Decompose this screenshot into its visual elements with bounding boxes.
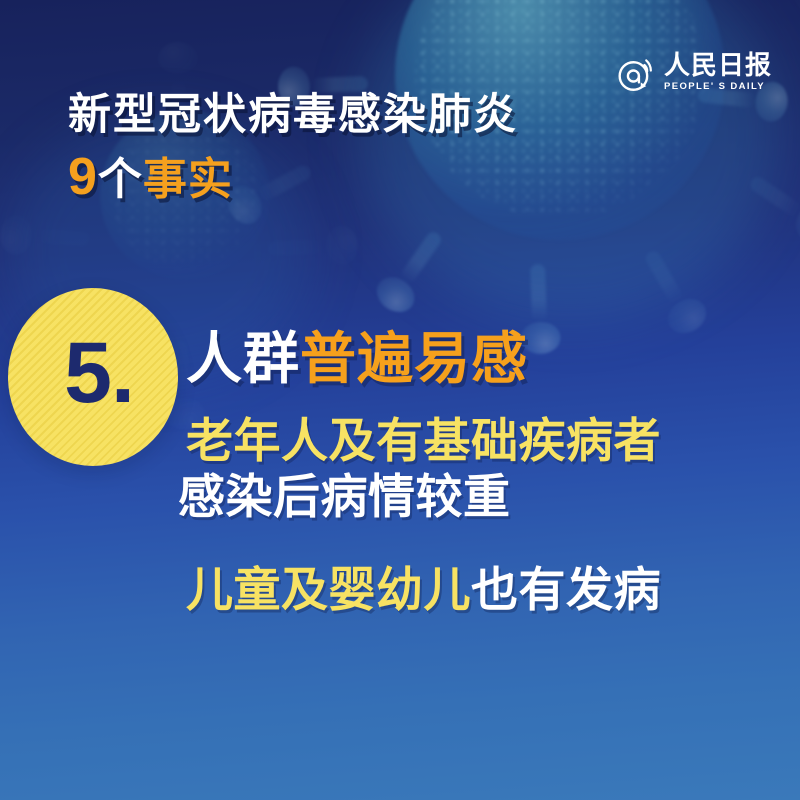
fact-sub-line-1-text: 老年人及有基础疾病者	[186, 414, 661, 467]
virus-spike	[633, 242, 710, 335]
fact-title-part-2: 普遍易感	[300, 327, 528, 390]
logo-text-block: 人民日报 PEOPLE' S DAILY	[664, 52, 772, 92]
virus-spike	[5, 214, 92, 260]
fact-title: 人群普遍易感	[186, 328, 786, 390]
fact-sub-line-2-text: 感染后病情较重	[178, 470, 511, 523]
fact-copy-block: 人群普遍易感 老年人及有基础疾病者 感染后病情较重 儿童及婴幼儿也有发病	[186, 328, 786, 617]
headline-unit: 个	[98, 155, 143, 204]
headline-line-2: 9个事实	[68, 150, 688, 205]
headline-number: 9	[68, 148, 98, 206]
fact-sub-line-1: 老年人及有基础疾病者	[186, 414, 786, 469]
headline-block: 新型冠状病毒感染肺炎 9个事实	[68, 92, 688, 205]
fact-number-badge: 5.	[8, 288, 178, 466]
fact-number: 5.	[64, 330, 134, 416]
virus-spike	[741, 163, 800, 243]
logo-name-en: PEOPLE' S DAILY	[664, 82, 772, 92]
fact-sub-line-2: 感染后病情较重	[178, 470, 786, 525]
virus-spike	[373, 223, 454, 315]
poster-canvas: 人民日报 PEOPLE' S DAILY 新型冠状病毒感染肺炎 9个事实 5. …	[0, 0, 800, 800]
fact-sub-line-3: 儿童及婴幼儿也有发病	[186, 563, 786, 618]
headline-line-1: 新型冠状病毒感染肺炎	[68, 92, 688, 138]
fact-sub-line-3-part-1: 儿童及婴幼儿	[186, 563, 471, 616]
fact-sub-line-3-part-2: 也有发病	[471, 563, 661, 616]
headline-word: 事实	[143, 155, 233, 204]
fact-title-part-1: 人群	[186, 327, 300, 390]
virus-spike	[267, 225, 352, 268]
logo-name-cn: 人民日报	[664, 52, 772, 78]
